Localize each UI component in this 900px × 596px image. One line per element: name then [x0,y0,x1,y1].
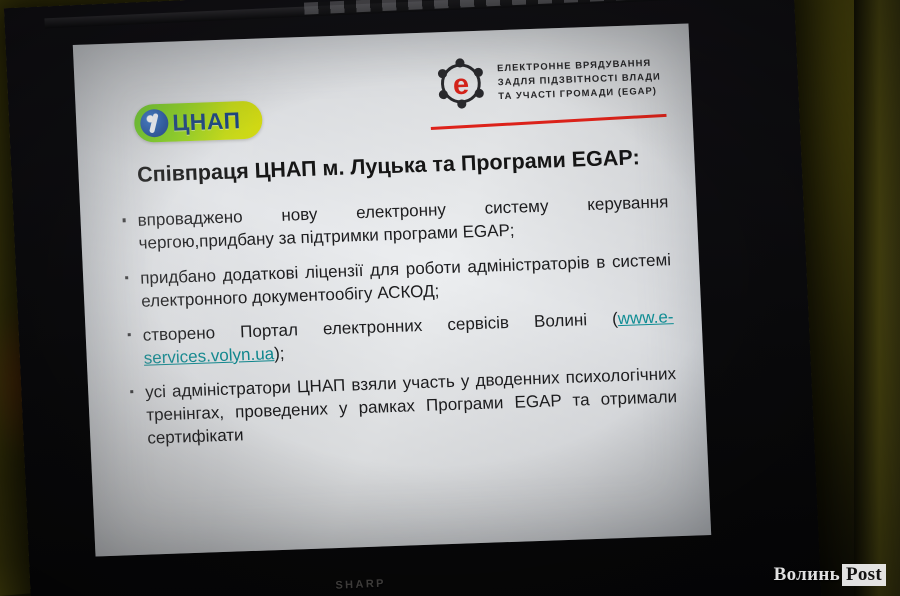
bullet-queue-system: впроваджено нову електронну систему керу… [120,191,670,256]
bullet-portal: створено Портал електронних сервісів Вол… [125,305,675,370]
watermark-second: Post [842,564,886,586]
egap-logo-text: ЕЛЕКТРОННЕ ВРЯДУВАННЯ ЗАДЛЯ ПІДЗВІТНОСТІ… [497,55,662,104]
bullet-portal-prefix: створено Портал електронних сервісів Вол… [142,309,618,345]
wall-right-strip [854,0,900,596]
watermark-first: Волинь [774,564,840,586]
photograph-of-presentation-screen: SHARP ЦНАП [0,0,900,596]
watermark: Волинь Post [774,564,886,586]
bullet-licenses: придбано додаткові ліцензії для роботи а… [123,248,673,313]
cnap-logo-text: ЦНАП [172,107,241,136]
egap-logo: e ЕЛЕКТРОННЕ ВРЯДУВАННЯ ЗАДЛЯ ПІДЗВІТНОС… [432,49,662,113]
bullet-trainings: усі адміністратори ЦНАП взяли участь у д… [128,362,679,450]
bullet-portal-suffix: ); [274,344,285,363]
slide-header: ЦНАП [100,42,672,158]
slide-bullet-list: впроваджено нову електронну систему керу… [106,190,684,451]
egap-gear-people-icon: e [432,55,490,113]
cnap-swirl-icon [140,109,169,138]
egap-red-rule [431,114,667,130]
presentation-slide: ЦНАП [73,24,711,557]
tv-screen: ЦНАП [73,24,711,557]
cnap-logo: ЦНАП [134,100,264,142]
tv-brand-label: SHARP [335,578,386,592]
svg-text:e: e [452,69,469,102]
